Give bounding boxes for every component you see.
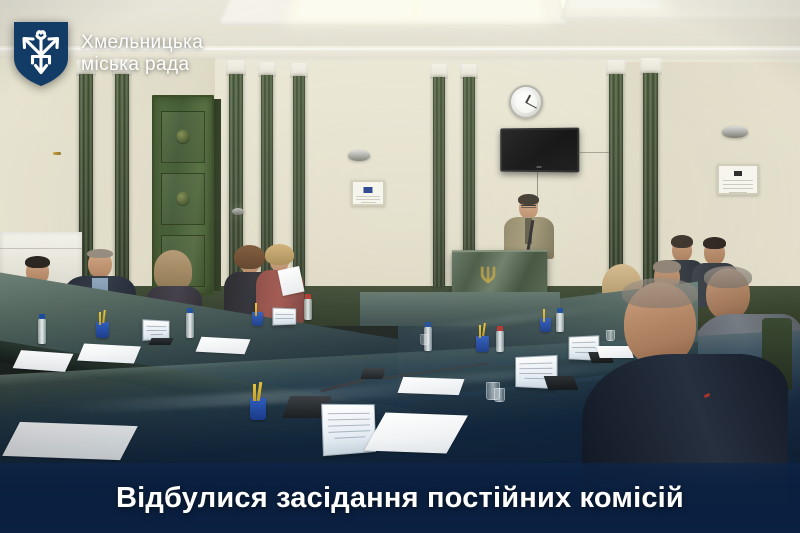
nameplate-3-line1	[519, 363, 552, 365]
khmelnytskyi-coat-of-arms-icon	[14, 22, 68, 86]
certificate-line-2	[356, 199, 380, 200]
tv-brand-logo	[537, 166, 542, 168]
attendee-l2-hair	[87, 249, 113, 258]
paper-sheet-3	[196, 337, 251, 355]
pencil-1a	[99, 312, 101, 325]
pen-cup-2	[252, 312, 263, 326]
water-bottle-5	[496, 330, 504, 352]
attendee-l5-hair	[265, 244, 294, 265]
certificate-emblem-right	[734, 171, 742, 176]
certificate-right-line-4	[729, 192, 746, 193]
attendee-r4-hair	[703, 237, 726, 249]
pencil-5a	[253, 384, 256, 401]
door-panel-top	[161, 111, 205, 163]
wall-sconce-small	[232, 208, 244, 215]
wall-sconce-right	[722, 126, 748, 138]
bottle-cap-6	[557, 308, 563, 313]
pen-cup-3	[476, 336, 489, 352]
water-bottle-2	[186, 312, 194, 338]
bottle-cap-5	[497, 326, 503, 331]
pencil-4a	[543, 309, 545, 322]
wall-tv	[500, 128, 579, 173]
nameplate-5-line5	[334, 436, 365, 439]
door-handle	[53, 152, 61, 155]
nameplate-1-line1	[146, 326, 167, 327]
water-bottle-1	[38, 318, 46, 344]
certificate-line-3	[361, 202, 376, 203]
pilaster-6	[433, 77, 445, 287]
trident-emblem-icon	[477, 264, 499, 286]
nameplate-2-line1	[276, 314, 294, 315]
headline-text: Відбулися засідання постійних комісій	[116, 482, 684, 515]
nameplate-5-line4	[328, 430, 370, 433]
attendee-r3-hair	[671, 235, 693, 248]
pilaster-8	[609, 74, 623, 290]
certificate-line-1	[356, 196, 380, 197]
attendee-l1-hair	[25, 256, 50, 268]
bottle-cap-3	[305, 294, 311, 299]
pen-cup-5	[250, 398, 266, 420]
nameplate-2	[272, 307, 296, 325]
clock-face	[515, 91, 537, 113]
ceiling-light-panel-1	[295, 0, 412, 17]
brand-lockup: Хмельницька міська рада	[14, 22, 203, 86]
wall-sconce-left	[348, 150, 370, 161]
table-head-segment	[360, 292, 560, 326]
brand-name: Хмельницька міська рада	[81, 32, 203, 77]
paper-sheet-6	[2, 422, 138, 460]
nameplate-3-line3	[519, 373, 552, 374]
nameplate-3-stand	[544, 376, 579, 390]
pencil-2a	[255, 303, 257, 316]
attendee-fg2-hair	[622, 278, 698, 308]
door-medallion-middle	[177, 192, 190, 205]
nameplate-3-line4	[524, 378, 547, 379]
nameplate-5-line3	[328, 424, 370, 426]
nameplate-1-stand	[148, 338, 173, 345]
certificate-right-line-3	[723, 188, 753, 189]
person-attendee-fg2	[596, 282, 776, 482]
speaker-hair	[518, 194, 539, 205]
door-panel-middle	[161, 173, 205, 225]
water-bottle-3	[304, 298, 312, 320]
headline-banner: Відбулися засідання постійних комісій	[0, 463, 800, 533]
person-speaker	[502, 196, 558, 258]
pen-cup-4	[540, 318, 551, 332]
paper-sheet-4	[397, 377, 464, 395]
nameplate-4-line2	[572, 347, 596, 348]
paper-sheet-2	[77, 343, 141, 363]
pencil-3a	[479, 325, 481, 338]
microphone-base-1	[360, 368, 385, 379]
pilaster-9	[643, 73, 658, 291]
nameplate-5-line2	[328, 419, 370, 421]
attendee-r2-hair	[653, 260, 681, 273]
speaker-glasses	[521, 205, 536, 208]
certificate-emblem-left	[364, 187, 373, 193]
screenshot-root: Хмельницька міська рада Відбулися засіда…	[0, 0, 800, 533]
nameplate-1-line2	[146, 330, 167, 331]
framed-certificate-left	[351, 180, 385, 206]
pen-cup-1	[96, 322, 109, 338]
drinking-glass-4	[486, 382, 500, 400]
door-medallion-top	[177, 130, 190, 143]
nameplate-5-line1	[328, 413, 370, 414]
drinking-glass-2	[420, 334, 429, 345]
nameplate-3-line2	[519, 368, 552, 369]
certificate-right-line-2	[723, 184, 753, 185]
nameplate-4-line1	[572, 342, 596, 344]
nameplate-1-line3	[150, 334, 163, 335]
attendee-l5-document	[278, 266, 305, 296]
framed-certificate-right	[717, 164, 759, 195]
water-bottle-6	[556, 312, 564, 332]
cabinet-seam	[0, 248, 82, 249]
tv-cable-horizontal	[578, 152, 618, 153]
bottle-cap-1	[39, 314, 45, 319]
wall-clock	[509, 85, 543, 119]
clock-minute-hand	[526, 102, 537, 109]
bottle-cap-2	[187, 308, 193, 313]
nameplate-2-line2	[276, 318, 294, 319]
bottle-cap-4	[425, 322, 431, 327]
ceiling-light-panel-2	[419, 0, 542, 17]
paper-sheet-1	[13, 350, 74, 372]
ceiling-coffer-right	[560, 0, 800, 19]
certificate-right-line-1	[723, 180, 753, 181]
attendee-l3-hair	[154, 250, 192, 290]
